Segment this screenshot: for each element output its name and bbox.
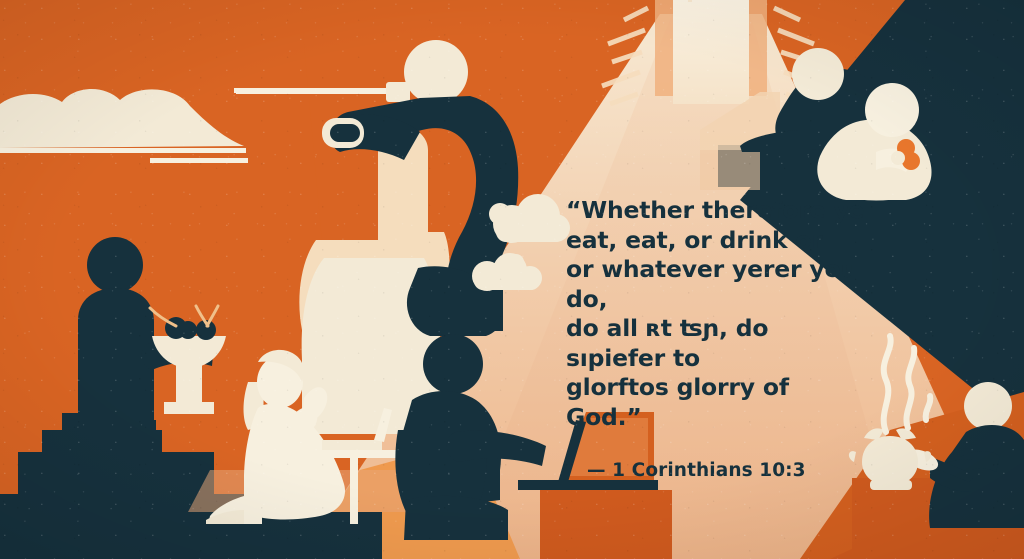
quote-text: “Whether therefore ye eat, eat, or drink… (566, 196, 866, 432)
cook-steam (884, 336, 931, 432)
cook-pot (862, 436, 918, 486)
illustration-canvas: “Whether therefore ye eat, eat, or drink… (0, 0, 1024, 559)
figure-cook (0, 0, 1024, 559)
quote-block: “Whether therefore ye eat, eat, or drink… (566, 196, 866, 481)
cook-head (964, 382, 1012, 430)
quote-attribution: — 1 Corinthians 10:3 (566, 432, 866, 481)
